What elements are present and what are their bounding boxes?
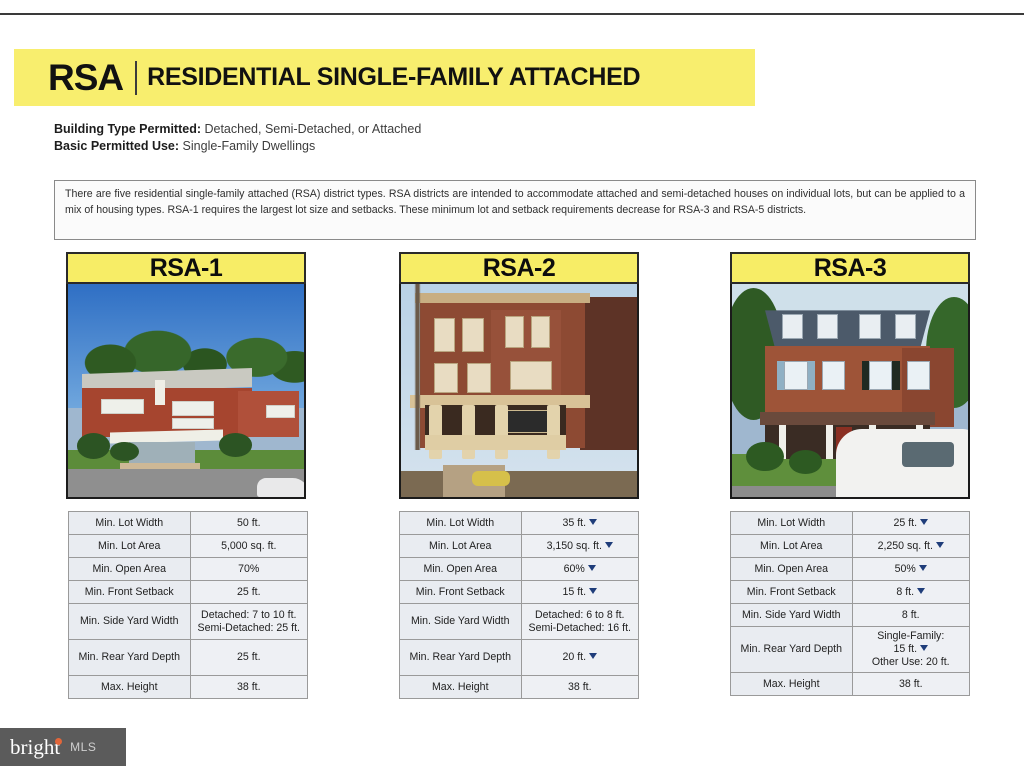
basic-use-label: Basic Permitted Use: xyxy=(54,139,179,153)
spec-row: Max. Height38 ft. xyxy=(400,676,639,699)
spec-value-line: 38 ft. xyxy=(525,681,636,694)
spec-value-line: Other Use: 20 ft. xyxy=(856,656,967,669)
spec-row: Min. Front Setback25 ft. xyxy=(69,581,308,604)
header-district-code: RSA xyxy=(48,59,123,96)
district-banner-rsa-1: RSA-1 xyxy=(66,252,306,284)
district-card-rsa-2: RSA-2 xyxy=(399,252,639,499)
spec-row: Min. Lot Area3,150 sq. ft. xyxy=(400,535,639,558)
spec-row-label: Min. Open Area xyxy=(400,558,522,581)
spec-value-line: 3,150 sq. ft. xyxy=(525,540,636,553)
spec-value-line: 25 ft. xyxy=(194,651,305,664)
spec-row-value: 25 ft. xyxy=(190,581,308,604)
spec-value-line: 70% xyxy=(194,563,305,576)
spec-row: Min. Rear Yard Depth20 ft. xyxy=(400,640,639,676)
decrease-triangle-icon xyxy=(936,542,944,548)
district-banner-rsa-2: RSA-2 xyxy=(399,252,639,284)
spec-row-value: 38 ft. xyxy=(190,676,308,699)
spec-value-line: Detached: 7 to 10 ft. xyxy=(194,609,305,622)
spec-row-value: 5,000 sq. ft. xyxy=(190,535,308,558)
spec-value-line: 25 ft. xyxy=(194,586,305,599)
spec-row-value: 20 ft. xyxy=(521,640,639,676)
page-root: RSA RESIDENTIAL SINGLE-FAMILY ATTACHED B… xyxy=(0,0,1024,768)
spec-row: Min. Side Yard WidthDetached: 7 to 10 ft… xyxy=(69,604,308,640)
header-divider xyxy=(135,61,137,95)
spec-row: Min. Front Setback8 ft. xyxy=(731,581,970,604)
decrease-triangle-icon xyxy=(589,588,597,594)
watermark-brand: bright xyxy=(10,737,60,758)
spec-value-line: Semi-Detached: 25 ft. xyxy=(194,622,305,635)
decrease-triangle-icon xyxy=(920,519,928,525)
spec-row-value: 8 ft. xyxy=(852,581,970,604)
watermark-brand-text: bright xyxy=(10,735,60,759)
permitted-summary: Building Type Permitted: Detached, Semi-… xyxy=(54,121,421,155)
spec-value-line: 15 ft. xyxy=(525,586,636,599)
district-name-rsa-3: RSA-3 xyxy=(814,256,887,281)
spec-value-line: 25 ft. xyxy=(856,517,967,530)
watermark-suffix: MLS xyxy=(70,740,96,754)
spec-value-line: 38 ft. xyxy=(194,681,305,694)
spec-row-value: 60% xyxy=(521,558,639,581)
spec-row-value: 38 ft. xyxy=(521,676,639,699)
spec-row: Min. Side Yard WidthDetached: 6 to 8 ft.… xyxy=(400,604,639,640)
decrease-triangle-icon xyxy=(589,653,597,659)
spec-row: Min. Lot Area5,000 sq. ft. xyxy=(69,535,308,558)
decrease-triangle-icon xyxy=(605,542,613,548)
spec-row: Max. Height38 ft. xyxy=(69,676,308,699)
district-photo-rsa-3 xyxy=(730,284,970,499)
spec-row-label: Min. Rear Yard Depth xyxy=(400,640,522,676)
spec-row-label: Min. Lot Area xyxy=(731,535,853,558)
spec-table-body-rsa-3: Min. Lot Width25 ft.Min. Lot Area2,250 s… xyxy=(731,512,970,696)
spec-row-value: 50% xyxy=(852,558,970,581)
spec-row-label: Min. Lot Area xyxy=(69,535,191,558)
spec-row-label: Min. Open Area xyxy=(69,558,191,581)
spec-row-value: 3,150 sq. ft. xyxy=(521,535,639,558)
spec-value-line: 35 ft. xyxy=(525,517,636,530)
spec-row-value: Single-Family:15 ft.Other Use: 20 ft. xyxy=(852,627,970,673)
decrease-triangle-icon xyxy=(589,519,597,525)
spec-row: Min. Lot Width50 ft. xyxy=(69,512,308,535)
building-type-line: Building Type Permitted: Detached, Semi-… xyxy=(54,121,421,138)
spec-row-label: Min. Rear Yard Depth xyxy=(69,640,191,676)
spec-row-value: 35 ft. xyxy=(521,512,639,535)
spec-row: Min. Open Area60% xyxy=(400,558,639,581)
spec-value-line: Semi-Detached: 16 ft. xyxy=(525,622,636,635)
spec-row-value: 70% xyxy=(190,558,308,581)
header-title: RESIDENTIAL SINGLE-FAMILY ATTACHED xyxy=(147,65,640,90)
spec-value-line: 50% xyxy=(856,563,967,576)
spec-row: Max. Height38 ft. xyxy=(731,673,970,696)
spec-value-line: 15 ft. xyxy=(856,643,967,656)
spec-row-value: Detached: 7 to 10 ft.Semi-Detached: 25 f… xyxy=(190,604,308,640)
spec-row-label: Min. Front Setback xyxy=(69,581,191,604)
spec-row-value: 38 ft. xyxy=(852,673,970,696)
spec-row: Min. Side Yard Width8 ft. xyxy=(731,604,970,627)
spec-row: Min. Lot Width25 ft. xyxy=(731,512,970,535)
spec-table-rsa-2: Min. Lot Width35 ft.Min. Lot Area3,150 s… xyxy=(399,511,639,699)
spec-row-label: Min. Front Setback xyxy=(731,581,853,604)
top-divider-rule xyxy=(0,13,1024,15)
spec-value-line: Single-Family: xyxy=(856,630,967,643)
spec-value-line: 5,000 sq. ft. xyxy=(194,540,305,553)
header-banner: RSA RESIDENTIAL SINGLE-FAMILY ATTACHED xyxy=(14,49,755,106)
spec-row: Min. Rear Yard DepthSingle-Family:15 ft.… xyxy=(731,627,970,673)
spec-row-label: Min. Lot Width xyxy=(731,512,853,535)
district-banner-rsa-3: RSA-3 xyxy=(730,252,970,284)
spec-value-line: 8 ft. xyxy=(856,609,967,622)
spec-value-line: 20 ft. xyxy=(525,651,636,664)
spec-row-value: 8 ft. xyxy=(852,604,970,627)
decrease-triangle-icon xyxy=(919,565,927,571)
spec-table-rsa-1: Min. Lot Width50 ft.Min. Lot Area5,000 s… xyxy=(68,511,308,699)
description-box: There are five residential single-family… xyxy=(54,180,976,240)
spec-row-label: Max. Height xyxy=(731,673,853,696)
watermark-dot-icon xyxy=(55,738,62,745)
spec-value-line: 2,250 sq. ft. xyxy=(856,540,967,553)
spec-row-value: 15 ft. xyxy=(521,581,639,604)
spec-row-label: Min. Front Setback xyxy=(400,581,522,604)
spec-row-label: Min. Rear Yard Depth xyxy=(731,627,853,673)
spec-row-value: 2,250 sq. ft. xyxy=(852,535,970,558)
spec-row: Min. Rear Yard Depth25 ft. xyxy=(69,640,308,676)
spec-row: Min. Open Area50% xyxy=(731,558,970,581)
spec-row-label: Min. Side Yard Width xyxy=(69,604,191,640)
spec-row-label: Min. Side Yard Width xyxy=(731,604,853,627)
district-card-rsa-3: RSA-3 xyxy=(730,252,970,499)
district-card-rsa-1: RSA-1 xyxy=(66,252,306,499)
spec-row-label: Min. Lot Area xyxy=(400,535,522,558)
spec-value-line: Detached: 6 to 8 ft. xyxy=(525,609,636,622)
description-text: There are five residential single-family… xyxy=(65,187,965,218)
spec-value-line: 60% xyxy=(525,563,636,576)
spec-row-label: Max. Height xyxy=(400,676,522,699)
spec-row-value: 25 ft. xyxy=(190,640,308,676)
spec-table-body-rsa-1: Min. Lot Width50 ft.Min. Lot Area5,000 s… xyxy=(69,512,308,699)
spec-row: Min. Lot Area2,250 sq. ft. xyxy=(731,535,970,558)
decrease-triangle-icon xyxy=(588,565,596,571)
spec-row-label: Min. Side Yard Width xyxy=(400,604,522,640)
building-type-value: Detached, Semi-Detached, or Attached xyxy=(204,122,421,136)
spec-row-label: Max. Height xyxy=(69,676,191,699)
spec-value-line: 50 ft. xyxy=(194,517,305,530)
spec-table-body-rsa-2: Min. Lot Width35 ft.Min. Lot Area3,150 s… xyxy=(400,512,639,699)
spec-value-line: 38 ft. xyxy=(856,678,967,691)
decrease-triangle-icon xyxy=(917,588,925,594)
spec-table-rsa-3: Min. Lot Width25 ft.Min. Lot Area2,250 s… xyxy=(730,511,970,696)
district-photo-rsa-1 xyxy=(66,284,306,499)
spec-row-value: 25 ft. xyxy=(852,512,970,535)
spec-row-value: 50 ft. xyxy=(190,512,308,535)
basic-use-value: Single-Family Dwellings xyxy=(183,139,316,153)
district-photo-rsa-2 xyxy=(399,284,639,499)
district-name-rsa-2: RSA-2 xyxy=(483,256,556,281)
bright-mls-watermark: bright MLS xyxy=(0,728,126,766)
spec-row-value: Detached: 6 to 8 ft.Semi-Detached: 16 ft… xyxy=(521,604,639,640)
building-type-label: Building Type Permitted: xyxy=(54,122,201,136)
spec-row: Min. Open Area70% xyxy=(69,558,308,581)
spec-value-line: 8 ft. xyxy=(856,586,967,599)
spec-row: Min. Front Setback15 ft. xyxy=(400,581,639,604)
spec-row: Min. Lot Width35 ft. xyxy=(400,512,639,535)
spec-row-label: Min. Lot Width xyxy=(69,512,191,535)
basic-use-line: Basic Permitted Use: Single-Family Dwell… xyxy=(54,138,421,155)
spec-row-label: Min. Lot Width xyxy=(400,512,522,535)
district-name-rsa-1: RSA-1 xyxy=(150,256,223,281)
decrease-triangle-icon xyxy=(920,645,928,651)
spec-row-label: Min. Open Area xyxy=(731,558,853,581)
